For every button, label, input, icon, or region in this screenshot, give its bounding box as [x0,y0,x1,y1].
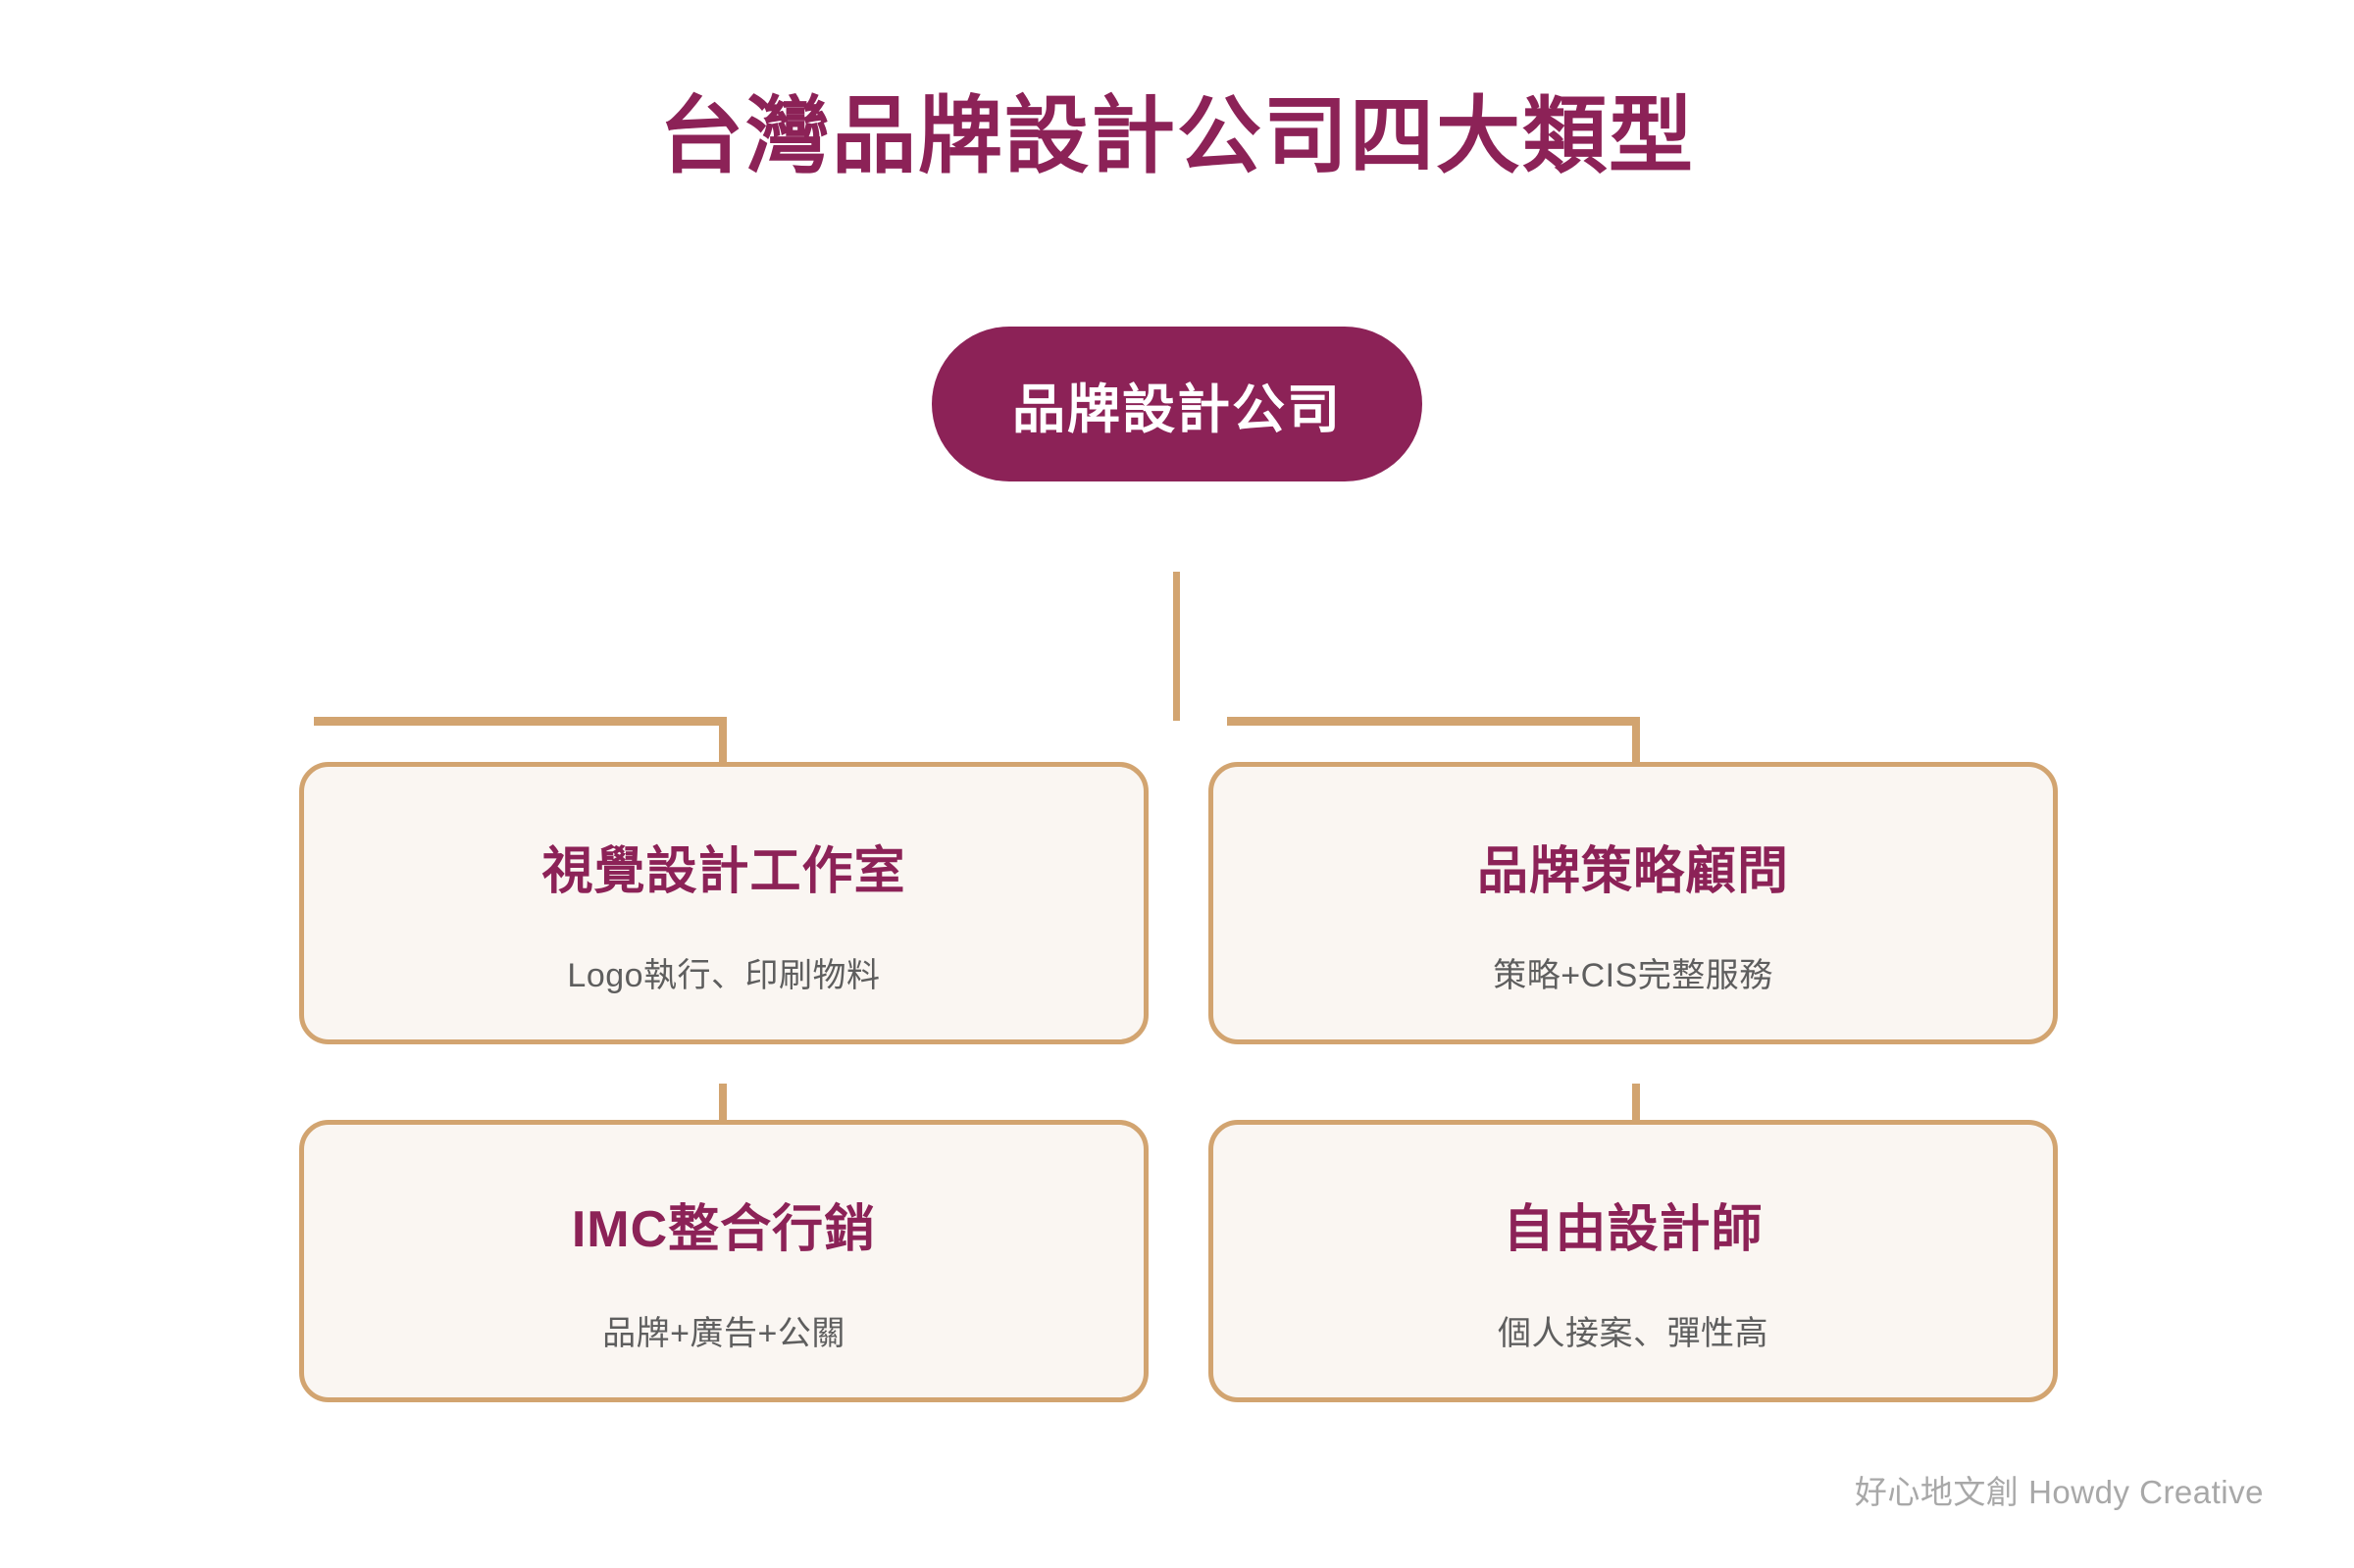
connector-horizontal-left [314,717,726,726]
root-node-label: 品牌設計公司 [1012,366,1342,443]
card-title: IMC整合行銷 [572,1188,876,1261]
card-title: 視覺設計工作室 [541,830,905,903]
node-card-visual-design-studio[interactable]: 視覺設計工作室 Logo執行、印刷物料 [299,762,1149,1044]
card-subtitle: 策略+CIS完整服務 [1493,948,1773,996]
card-subtitle: Logo執行、印刷物料 [567,948,880,996]
node-card-brand-strategy-consultant[interactable]: 品牌策略顧問 策略+CIS完整服務 [1208,762,2058,1044]
card-title: 自由設計師 [1503,1188,1763,1261]
connector-horizontal-right [1227,717,1639,726]
card-subtitle: 品牌+廣告+公關 [602,1306,845,1354]
node-card-freelance-designer[interactable]: 自由設計師 個人接案、彈性高 [1208,1120,2058,1402]
card-title: 品牌策略顧問 [1477,830,1789,903]
connector-root-vertical [1173,572,1180,721]
root-node[interactable]: 品牌設計公司 [932,327,1422,481]
footer-watermark: 好心地文創 Howdy Creative [1855,1466,2264,1513]
node-card-imc-integrated-marketing[interactable]: IMC整合行銷 品牌+廣告+公關 [299,1120,1149,1402]
page-title: 台灣品牌設計公司四大類型 [0,86,2354,187]
diagram-canvas: 台灣品牌設計公司四大類型 品牌設計公司 視覺設計工作室 Logo執行、印刷物料 … [0,0,2354,1568]
card-subtitle: 個人接案、彈性高 [1498,1306,1768,1354]
